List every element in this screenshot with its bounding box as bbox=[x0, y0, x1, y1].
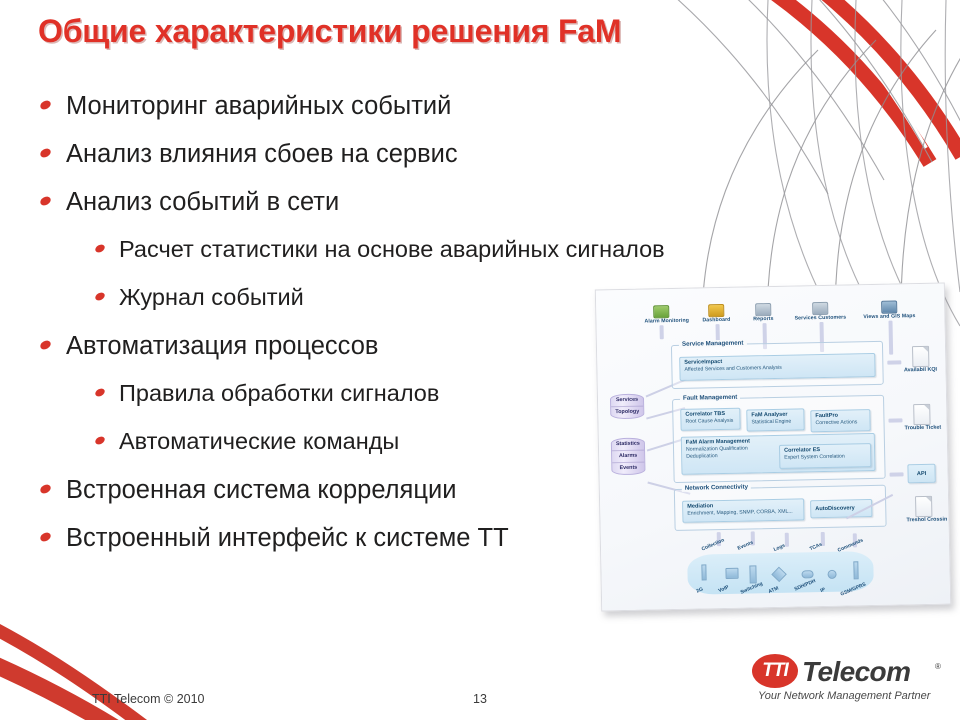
diagram-label: Collection bbox=[701, 537, 726, 552]
list-item: Расчет статистики на основе аварийных си… bbox=[40, 236, 620, 284]
page-title: Общие характеристики решения FaM bbox=[38, 13, 798, 50]
diagram-arrow bbox=[890, 472, 904, 476]
bullet-dot-icon bbox=[94, 243, 106, 254]
diagram-label: API bbox=[907, 464, 935, 484]
diagram-block-subtitle: Statistical Engine bbox=[751, 418, 799, 426]
list-item-label: Встроенный интерфейс к системе ТТ bbox=[66, 524, 509, 553]
bullet-dot-icon bbox=[39, 99, 52, 111]
logo-registered-mark: ® bbox=[935, 662, 941, 671]
bullet-dot-icon bbox=[39, 195, 52, 207]
diagram-group-title: Fault Management bbox=[680, 394, 740, 402]
network-node-icon bbox=[725, 568, 738, 579]
bullet-dot-icon bbox=[39, 531, 52, 543]
list-item-label: Автоматизация процессов bbox=[66, 332, 378, 361]
dashboard-icon bbox=[708, 304, 724, 317]
diagram-app-dashboard: Dashboard bbox=[700, 304, 732, 324]
diagram-block-subtitle: Expert System Correlation bbox=[784, 453, 866, 461]
document-icon bbox=[915, 496, 932, 517]
diagram-output-api: API bbox=[907, 464, 935, 484]
logo-wordmark: Telecom bbox=[802, 656, 910, 688]
diagram-arrow bbox=[785, 533, 789, 547]
diagram-label: Alarm Monitoring bbox=[644, 318, 678, 325]
list-item: Встроенная система корреляции bbox=[40, 476, 620, 524]
diagram-block-serviceimpact: ServiceImpact Affected Services and Cust… bbox=[679, 353, 875, 381]
diagram-label: Services bbox=[611, 395, 643, 408]
diagram-label: Trouble Ticket bbox=[905, 425, 939, 432]
bullet-dot-icon bbox=[94, 387, 106, 398]
diagram-block-subtitle: Root Cause Analysis bbox=[685, 418, 735, 426]
list-item-label: Встроенная система корреляции bbox=[66, 476, 456, 505]
bullet-dot-icon bbox=[94, 435, 106, 446]
diagram-block-correlator-es: Correlator ES Expert System Correlation bbox=[779, 443, 871, 469]
views-gis-maps-icon bbox=[881, 300, 897, 313]
list-item-label: Расчет статистики на основе аварийных си… bbox=[119, 236, 665, 263]
diagram-label: Alarms bbox=[612, 451, 644, 464]
diagram-output-availability-kqi: Availabil KQI bbox=[903, 346, 938, 374]
alarm-monitoring-icon bbox=[653, 305, 669, 318]
diagram-label: TCAs bbox=[809, 542, 823, 553]
diagram-output-threshold-crossing-alarms: Treshol Crossin Alarms bbox=[906, 496, 941, 524]
diagram-arrow bbox=[888, 418, 902, 422]
document-icon bbox=[912, 346, 929, 367]
document-icon bbox=[913, 404, 930, 425]
bullet-dot-icon bbox=[39, 147, 52, 159]
bullet-dot-icon bbox=[94, 291, 106, 302]
network-node-icon bbox=[749, 565, 756, 583]
diagram-arrow bbox=[887, 360, 901, 364]
diagram-label: Services Customers bbox=[792, 314, 848, 321]
diagram-block-faultpro: FaultPro Corrective Actions bbox=[810, 409, 870, 432]
list-item: Анализ влияния сбоев на сервис bbox=[40, 140, 620, 188]
network-node-icon bbox=[701, 564, 706, 580]
list-item: Журнал событий bbox=[40, 284, 620, 332]
reports-icon bbox=[755, 303, 771, 316]
bullet-list: Мониторинг аварийных событий Анализ влия… bbox=[40, 92, 620, 572]
list-item: Анализ событий в сети bbox=[40, 188, 620, 236]
list-item: Автоматические команды bbox=[40, 428, 620, 476]
bullet-dot-icon bbox=[39, 339, 52, 351]
list-item-label: Журнал событий bbox=[119, 284, 304, 311]
diagram-block-fam-analyser: FaM Analyser Statistical Engine bbox=[746, 408, 804, 431]
diagram-database-services-topology: Services Topology bbox=[610, 394, 644, 420]
list-item: Встроенный интерфейс к системе ТТ bbox=[40, 524, 620, 572]
diagram-app-alarm-monitoring: Alarm Monitoring bbox=[644, 305, 678, 325]
diagram-label: 2G bbox=[696, 586, 704, 594]
diagram-label: Availabil KQI bbox=[903, 367, 937, 374]
network-node-icon bbox=[853, 561, 858, 579]
diagram-block-subtitle: Corrective Actions bbox=[815, 419, 865, 427]
diagram-label: Dashboard bbox=[700, 317, 732, 324]
list-item: Мониторинг аварийных событий bbox=[40, 92, 620, 140]
list-item: Правила обработки сигналов bbox=[40, 380, 620, 428]
diagram-label: Topology bbox=[611, 407, 643, 419]
diagram-label: Events bbox=[612, 463, 644, 475]
diagram-label: Events bbox=[737, 540, 754, 552]
diagram-label: Logs bbox=[773, 543, 786, 553]
tti-telecom-logo: TTI Telecom ® Your Network Management Pa… bbox=[752, 652, 952, 710]
diagram-group-title: Network Connectivity bbox=[682, 483, 751, 491]
diagram-block-title: AutoDiscovery bbox=[815, 505, 855, 513]
diagram-app-views-gis-maps: Views and GIS Maps bbox=[858, 300, 920, 320]
logo-mark-text: TTI bbox=[752, 654, 798, 688]
architecture-diagram-image: Alarm Monitoring Dashboard Reports Servi… bbox=[595, 283, 951, 612]
diagram-output-trouble-ticket: Trouble Ticket bbox=[904, 404, 939, 432]
diagram-arrow bbox=[888, 321, 893, 355]
diagram-app-reports: Reports bbox=[748, 303, 778, 323]
diagram-label: Treshol Crossin Alarms bbox=[906, 517, 940, 524]
list-item-label: Правила обработки сигналов bbox=[119, 380, 439, 407]
list-item-label: Анализ влияния сбоев на сервис bbox=[66, 140, 458, 169]
diagram-block-subtitle: Normalization Qualification Deduplicatio… bbox=[686, 445, 778, 460]
diagram-label: Statistics bbox=[612, 439, 644, 452]
diagram-label: Views and GIS Maps bbox=[858, 313, 920, 320]
diagram-database-statistics-alarms-events: Statistics Alarms Events bbox=[611, 438, 646, 476]
list-item: Автоматизация процессов bbox=[40, 332, 620, 380]
list-item-label: Анализ событий в сети bbox=[66, 188, 339, 217]
diagram-block-correlator-tbs: Correlator TBS Root Cause Analysis bbox=[680, 408, 740, 431]
list-item-label: Мониторинг аварийных событий bbox=[66, 92, 451, 121]
bullet-dot-icon bbox=[39, 483, 52, 495]
services-customers-icon bbox=[812, 302, 828, 315]
slide: Общие характеристики решения FaM Монитор… bbox=[0, 0, 960, 720]
diagram-label: Reports bbox=[748, 316, 778, 323]
logo-tagline: Your Network Management Partner bbox=[758, 690, 930, 702]
diagram-block-subtitle: Enrichment, Mapping, SNMP, CORBA, XML... bbox=[687, 508, 799, 517]
list-item-label: Автоматические команды bbox=[119, 428, 399, 455]
diagram-block-mediation: Mediation Enrichment, Mapping, SNMP, COR… bbox=[682, 498, 804, 522]
diagram-group-title: Service Management bbox=[679, 340, 747, 348]
network-node-icon bbox=[801, 570, 813, 578]
diagram-arrow bbox=[660, 325, 664, 339]
diagram-app-services-customers: Services Customers bbox=[792, 301, 848, 321]
